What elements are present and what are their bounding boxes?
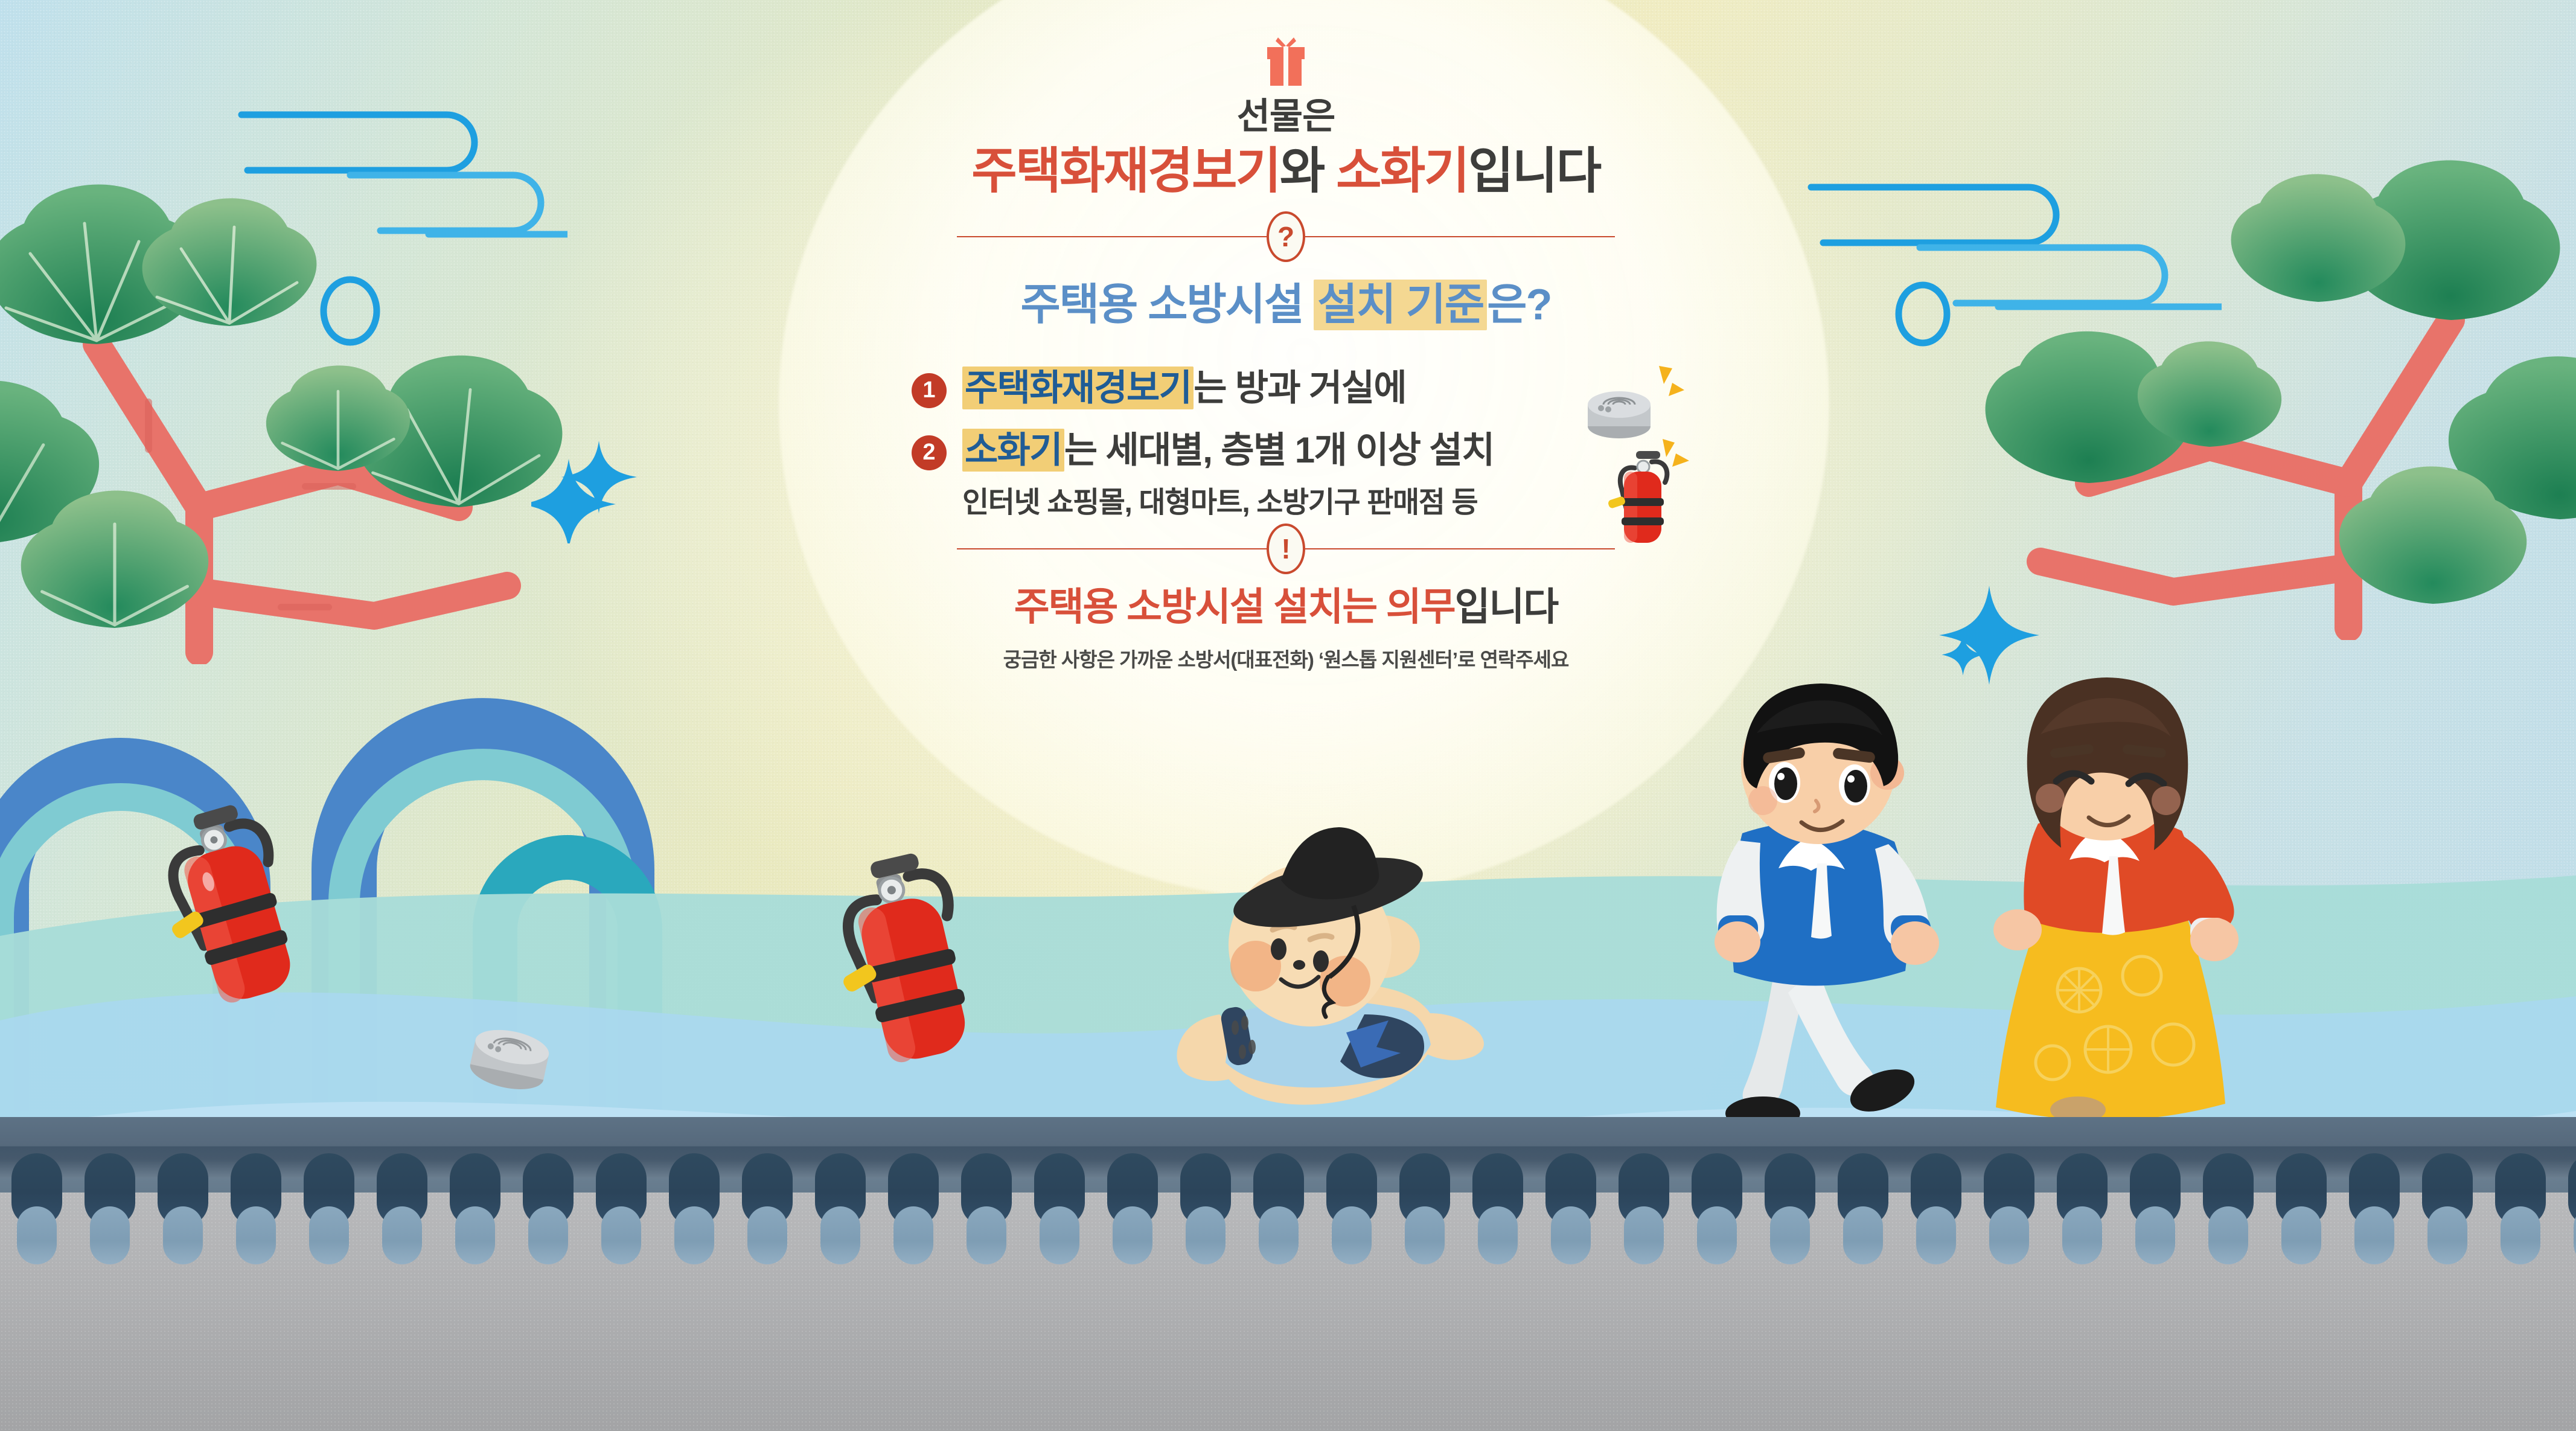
footer-title-tail: 입니다 [1455,585,1558,629]
roof-tile [1023,1153,1096,1232]
headline: 주택화재경보기와 소화기입니다 [851,142,1721,201]
roof-tile [219,1153,292,1232]
footer-title-main: 주택용 소방시설 설치는 의무 [1014,585,1455,629]
roof-tile [1753,1153,1826,1232]
poster-canvas: 선물은 주택화재경보기와 소화기입니다 ? 주택용 소방시설 설치 기준은? 1… [0,0,2576,1431]
roof-tile [146,1153,219,1232]
headline-tail: 입니다 [1468,144,1600,199]
list-item-body: 소화기는 세대별, 층별 1개 이상 설치 인터넷 쇼핑몰, 대형마트, 소방기… [962,428,1660,520]
roof-tile [2118,1153,2191,1232]
cloud-ring-right [1890,278,1956,350]
roof-tile [1534,1153,1607,1232]
pine-tree-right [1968,145,2576,640]
footer-note: 궁금한 사항은 가까운 소방서(대표전화) ‘원스톱 지원센터’로 연락주세요 [851,644,1721,673]
roof-tile [1461,1153,1534,1232]
roof-tile [365,1153,438,1232]
roof-tile [2045,1153,2118,1232]
roof-tile [1388,1153,1461,1232]
roof-tile [2264,1153,2338,1232]
gift-box-icon [1262,36,1309,87]
lead-text: 선물은 [851,97,1721,136]
divider-question: ? [957,236,1615,237]
roof-tile [1899,1153,1972,1232]
list-item: 2 소화기는 세대별, 층별 1개 이상 설치 인터넷 쇼핑몰, 대형마트, 소… [912,428,1660,520]
headline-keyword-1: 주택화재경보기 [971,144,1280,199]
roof-tile [804,1153,877,1232]
list-item-body: 주택화재경보기는 방과 거실에 [962,366,1660,410]
headline-keyword-2: 소화기 [1336,144,1468,199]
question-title: 주택용 소방시설 설치 기준은? [851,269,1721,332]
roof-tile [1972,1153,2045,1232]
roof-tile [877,1153,950,1232]
roof-tile [730,1153,804,1232]
list-item-text: 는 방과 거실에 [1194,368,1406,408]
headline-connector: 와 [1280,144,1324,199]
roof-tile [2338,1153,2411,1232]
roof-tile [2191,1153,2264,1232]
fire-extinguisher-icon [1605,438,1695,549]
hanbok-man [1666,682,1980,1141]
roof-tile [73,1153,146,1232]
roof-tile [584,1153,657,1232]
list-item-line: 주택화재경보기는 방과 거실에 [962,366,1660,410]
divider-notice: ! [957,548,1615,549]
roof-tile [2484,1153,2557,1232]
roof-tile [1096,1153,1169,1232]
hanbok-woman [1950,676,2264,1147]
roof-tile [1680,1153,1753,1232]
pine-tree-left [0,169,580,664]
list-number-badge: 2 [912,435,947,470]
pig-mascot [1129,815,1503,1129]
question-badge: ? [1267,211,1305,262]
hanok-roof-tiles [0,1153,2576,1232]
roof-tile [1315,1153,1388,1232]
roof-tile [1242,1153,1315,1232]
list-item: 1 주택화재경보기는 방과 거실에 [912,366,1660,410]
roof-tile [511,1153,584,1232]
notice-badge: ! [1267,523,1305,574]
roof-tile [657,1153,730,1232]
roof-tile [2557,1153,2576,1232]
question-suffix: 은? [1487,281,1551,329]
list-number-badge: 1 [912,373,947,408]
roof-tile [292,1153,365,1232]
footer-title: 주택용 소방시설 설치는 의무입니다 [851,576,1721,632]
info-panel: 선물은 주택화재경보기와 소화기입니다 ? 주택용 소방시설 설치 기준은? 1… [851,36,1721,673]
list-item-text: 는 세대별, 층별 1개 이상 설치 [1064,430,1494,470]
roof-tile [950,1153,1023,1232]
sparkle-left [531,423,652,546]
roof-tile [1169,1153,1242,1232]
criteria-list: 1 주택화재경보기는 방과 거실에 [912,366,1660,520]
roof-tile [0,1153,73,1232]
list-item-keyword: 소화기 [962,429,1064,472]
list-item-keyword: 주택화재경보기 [962,367,1194,409]
roof-tile [438,1153,511,1232]
question-highlight: 설치 기준 [1314,280,1487,330]
list-item-subtext: 인터넷 쇼핑몰, 대형마트, 소방기구 판매점 등 [962,478,1660,520]
question-prefix: 주택용 소방시설 [1021,281,1303,329]
roof-tile [2411,1153,2484,1232]
roof-tile [1607,1153,1680,1232]
list-item-line: 소화기는 세대별, 층별 1개 이상 설치 [962,428,1660,472]
roof-tile [1826,1153,1899,1232]
